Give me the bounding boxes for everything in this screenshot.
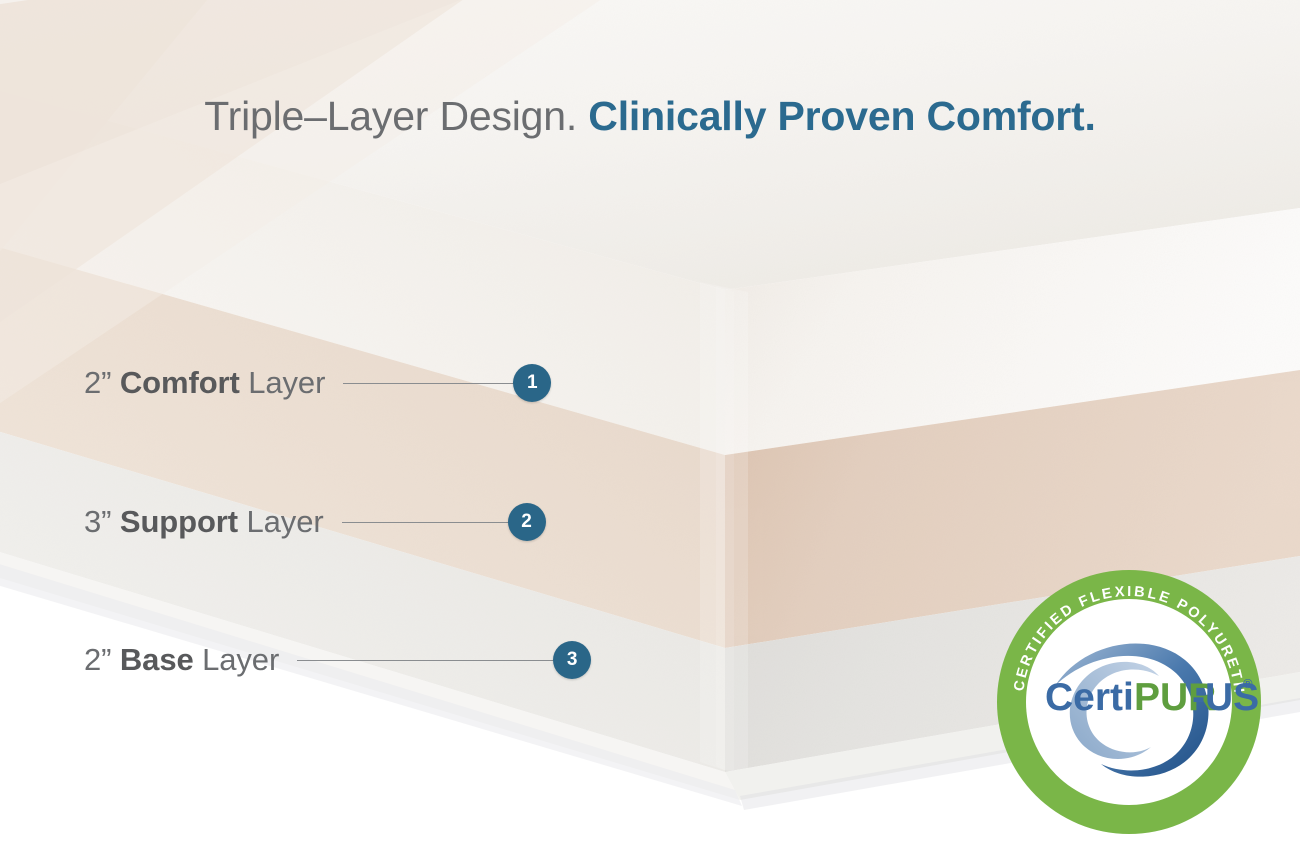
seal-registered-mark: ®: [1243, 676, 1253, 691]
callout-comfort-layer: 2” Comfort Layer 1: [84, 361, 551, 405]
callout-label-base: 2” Base Layer: [84, 642, 279, 678]
badge-1[interactable]: 1: [513, 364, 551, 402]
certipur-us-seal: CONTAINS CERTIFIED FLEXIBLE POLYURETHANE…: [995, 568, 1263, 836]
seal-wordmark: Certi PUR -US ®: [1045, 676, 1259, 719]
callout-label-support: 3” Support Layer: [84, 504, 324, 540]
leader-line-2: [342, 522, 514, 523]
badge-3[interactable]: 3: [553, 641, 591, 679]
leader-line-3: [297, 660, 559, 661]
callout-label-comfort: 2” Comfort Layer: [84, 365, 325, 401]
callout-base-layer: 2” Base Layer 3: [84, 638, 591, 682]
seal-brand-certi: Certi: [1045, 676, 1134, 719]
callout-support-layer: 3” Support Layer 2: [84, 500, 546, 544]
mattress-front-corner: [700, 282, 748, 778]
badge-2[interactable]: 2: [508, 503, 546, 541]
leader-line-1: [343, 383, 519, 384]
product-infographic: Triple–Layer Design. Clinically Proven C…: [0, 0, 1300, 866]
